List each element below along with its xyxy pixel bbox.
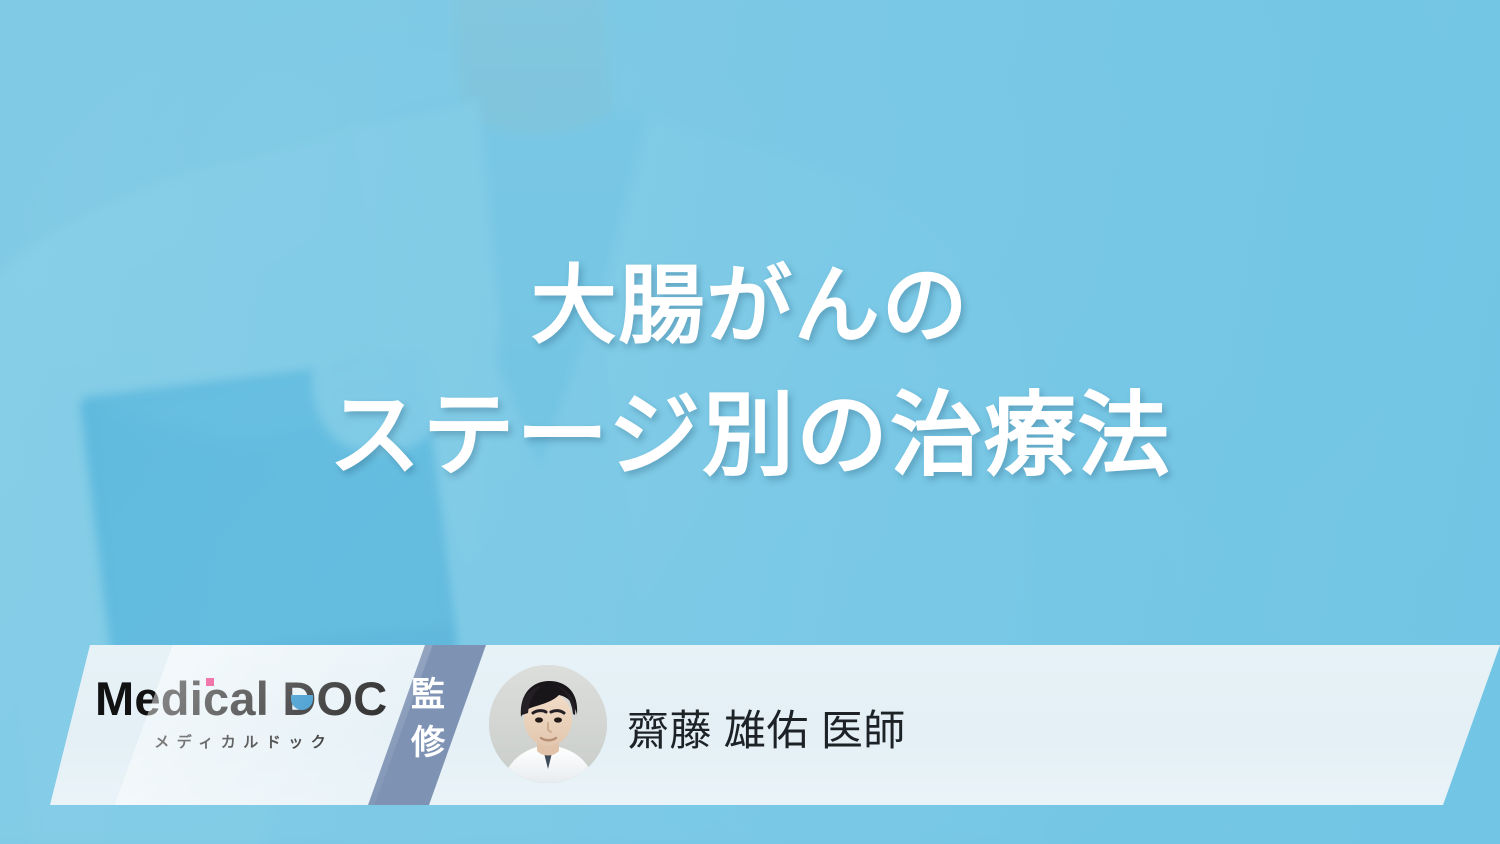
logo-wordmark-wrap: Medical DOC [95, 675, 387, 722]
logo-i-dot-icon [206, 678, 214, 686]
supervision-badge-label: 監修 [398, 671, 458, 768]
logo-wordmark: Medical DOC [95, 675, 387, 722]
slide-canvas: 大腸がんの ステージ別の治療法 Medical DOC メディカルドック 監修 [0, 0, 1500, 844]
credit-bar: Medical DOC メディカルドック 監修 [0, 645, 1500, 805]
medical-doc-logo: Medical DOC メディカルドック [95, 675, 385, 752]
doctor-name: 齋藤 雄佑 医師 [627, 697, 906, 758]
logo-subtitle: メディカルドック [95, 731, 385, 752]
doctor-avatar [489, 665, 607, 783]
